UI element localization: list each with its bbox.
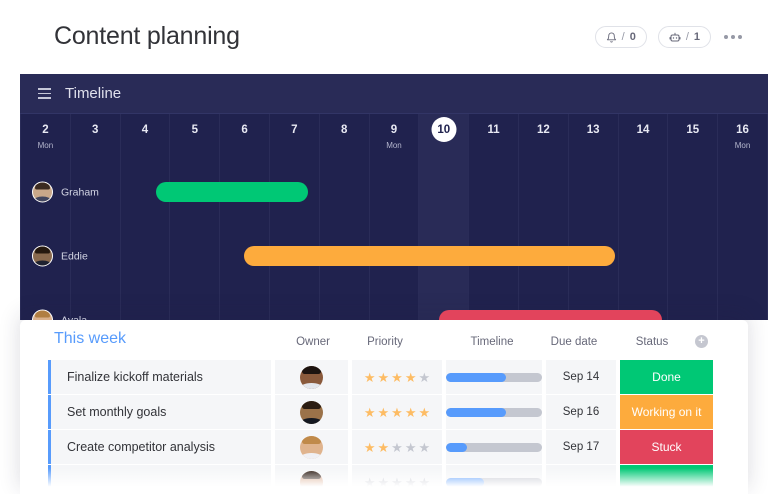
automations-badge[interactable]: / 1 (658, 26, 711, 48)
status-badge[interactable]: Working on it (620, 395, 713, 429)
column-header-priority: Priority (350, 336, 420, 348)
table-row[interactable]: Create competitor analysis★★★★★Sep 17Stu… (20, 430, 748, 464)
cell-timeline[interactable] (444, 465, 542, 494)
add-column-button[interactable]: + (695, 335, 708, 348)
day-number: 16 (718, 124, 767, 136)
priority-stars[interactable]: ★★★★★ (364, 476, 430, 489)
day-number: 15 (668, 124, 717, 136)
cell-status[interactable]: Done (618, 360, 713, 394)
cell-timeline[interactable] (444, 430, 542, 464)
timeline-rows: GrahamEddieAyala (20, 160, 768, 320)
progress-bar[interactable] (446, 373, 542, 382)
day-number: 3 (71, 124, 120, 136)
this-week-card: This week Owner Priority Timeline Due da… (20, 320, 748, 494)
timeline-title: Timeline (65, 85, 121, 102)
progress-fill (446, 373, 506, 382)
cell-timeline[interactable] (444, 395, 542, 429)
robot-icon (669, 32, 681, 43)
column-header-timeline: Timeline (448, 336, 536, 348)
cell-status[interactable]: Stuck (618, 430, 713, 464)
cell-task-name[interactable] (51, 465, 271, 494)
star-icon: ★ (364, 441, 376, 454)
timeline-bar[interactable] (156, 182, 308, 202)
timeline-row: Graham (20, 160, 768, 224)
person-name: Ayala (61, 314, 87, 320)
person-name: Eddie (61, 250, 88, 262)
task-name: Create competitor analysis (67, 440, 215, 454)
timeline-grid: 2Mon3456789Mon10111213141516Mon GrahamEd… (20, 114, 768, 320)
top-bar: Content planning / 0 (20, 0, 768, 74)
cell-status[interactable]: Working on it (618, 395, 713, 429)
cell-task-name[interactable]: Finalize kickoff materials (51, 360, 271, 394)
person-name: Graham (61, 186, 99, 198)
card-title: This week (54, 330, 126, 348)
owner-avatar[interactable] (300, 471, 323, 494)
progress-bar[interactable] (446, 478, 542, 487)
progress-fill (446, 443, 467, 452)
timeline-panel: Timeline 2Mon3456789Mon10111213141516Mon… (20, 74, 768, 320)
cell-owner[interactable] (273, 465, 348, 494)
priority-stars[interactable]: ★★★★★ (364, 371, 430, 384)
timeline-person[interactable]: Ayala (32, 310, 87, 321)
timeline-person[interactable]: Eddie (32, 246, 88, 267)
hamburger-icon[interactable] (38, 88, 51, 99)
progress-bar[interactable] (446, 408, 542, 417)
status-badge[interactable]: Stuck (620, 430, 713, 464)
star-icon: ★ (405, 476, 417, 489)
column-header-due-date: Due date (538, 336, 610, 348)
star-icon: ★ (378, 406, 390, 419)
due-date: Sep 14 (563, 371, 599, 383)
star-icon: ★ (378, 476, 390, 489)
star-icon: ★ (405, 406, 417, 419)
day-number: 2 (21, 124, 70, 136)
star-icon: ★ (391, 476, 403, 489)
star-icon: ★ (418, 476, 430, 489)
star-icon: ★ (364, 406, 376, 419)
board-rows: Finalize kickoff materials★★★★★Sep 14Don… (20, 360, 748, 494)
day-weekday: Mon (21, 141, 70, 150)
page-title: Content planning (54, 22, 240, 51)
cell-priority[interactable]: ★★★★★ (350, 360, 442, 394)
column-header-owner: Owner (278, 336, 348, 348)
timeline-bar[interactable] (439, 310, 662, 320)
due-date: Sep 16 (563, 406, 599, 418)
table-row[interactable]: Set monthly goals★★★★★Sep 16Working on i… (20, 395, 748, 429)
cell-due-date[interactable]: Sep 16 (544, 395, 616, 429)
star-icon: ★ (364, 371, 376, 384)
avatar (32, 182, 53, 203)
badge-separator: / (622, 31, 625, 43)
card-header: This week Owner Priority Timeline Due da… (20, 320, 748, 360)
star-icon: ★ (378, 371, 390, 384)
day-number: 7 (270, 124, 319, 136)
day-number: 14 (619, 124, 668, 136)
timeline-person[interactable]: Graham (32, 182, 99, 203)
cell-status[interactable] (618, 465, 713, 494)
badge-separator: / (686, 31, 689, 43)
star-icon: ★ (391, 406, 403, 419)
cell-due-date[interactable]: Sep 14 (544, 360, 616, 394)
day-number: 13 (569, 124, 618, 136)
cell-task-name[interactable]: Create competitor analysis (51, 430, 271, 464)
more-options-icon[interactable] (722, 29, 744, 45)
progress-bar[interactable] (446, 443, 542, 452)
star-icon: ★ (405, 441, 417, 454)
cell-timeline[interactable] (444, 360, 542, 394)
column-header-status: Status (616, 336, 688, 348)
cell-priority[interactable]: ★★★★★ (350, 430, 442, 464)
today-marker: 10 (431, 117, 456, 142)
timeline-row: Eddie (20, 224, 768, 288)
due-date: Sep 17 (563, 441, 599, 453)
star-icon: ★ (364, 476, 376, 489)
star-icon: ★ (418, 371, 430, 384)
table-row[interactable]: ★★★★★ (20, 465, 748, 494)
status-badge[interactable]: Done (620, 360, 713, 394)
status-badge[interactable] (620, 465, 713, 494)
top-actions: / 0 / 1 (595, 26, 744, 48)
star-icon: ★ (391, 441, 403, 454)
day-number: 9 (370, 124, 419, 136)
badge-count: 0 (630, 31, 636, 43)
day-weekday: Mon (718, 141, 767, 150)
owner-avatar[interactable] (300, 401, 323, 424)
star-icon: ★ (405, 371, 417, 384)
owner-avatar[interactable] (300, 436, 323, 459)
timeline-bar[interactable] (244, 246, 615, 266)
day-number: 5 (170, 124, 219, 136)
day-number: 11 (469, 124, 518, 136)
day-weekday: Mon (370, 141, 419, 150)
timeline-header: Timeline (20, 74, 768, 114)
day-number: 12 (519, 124, 568, 136)
star-icon: ★ (378, 441, 390, 454)
avatar (32, 246, 53, 267)
app-window: Content planning / 0 (0, 0, 768, 494)
cell-task-name[interactable]: Set monthly goals (51, 395, 271, 429)
star-icon: ★ (418, 406, 430, 419)
cell-due-date[interactable] (544, 465, 616, 494)
task-name: Finalize kickoff materials (67, 370, 203, 384)
day-number: 4 (121, 124, 170, 136)
cell-priority[interactable]: ★★★★★ (350, 465, 442, 494)
badge-count: 1 (694, 31, 700, 43)
task-name: Set monthly goals (67, 405, 166, 419)
table-row[interactable]: Finalize kickoff materials★★★★★Sep 14Don… (20, 360, 748, 394)
timeline-row: Ayala (20, 288, 768, 320)
progress-fill (446, 478, 484, 487)
priority-stars[interactable]: ★★★★★ (364, 441, 430, 454)
cell-due-date[interactable]: Sep 17 (544, 430, 616, 464)
cell-priority[interactable]: ★★★★★ (350, 395, 442, 429)
star-icon: ★ (418, 441, 430, 454)
day-number: 6 (220, 124, 269, 136)
bell-icon (606, 32, 617, 43)
cell-owner[interactable] (273, 395, 348, 429)
owner-avatar[interactable] (300, 366, 323, 389)
cell-owner[interactable] (273, 360, 348, 394)
cell-owner[interactable] (273, 430, 348, 464)
progress-fill (446, 408, 506, 417)
avatar (32, 310, 53, 321)
notifications-badge[interactable]: / 0 (595, 26, 647, 48)
star-icon: ★ (391, 371, 403, 384)
priority-stars[interactable]: ★★★★★ (364, 406, 430, 419)
day-number: 8 (320, 124, 369, 136)
